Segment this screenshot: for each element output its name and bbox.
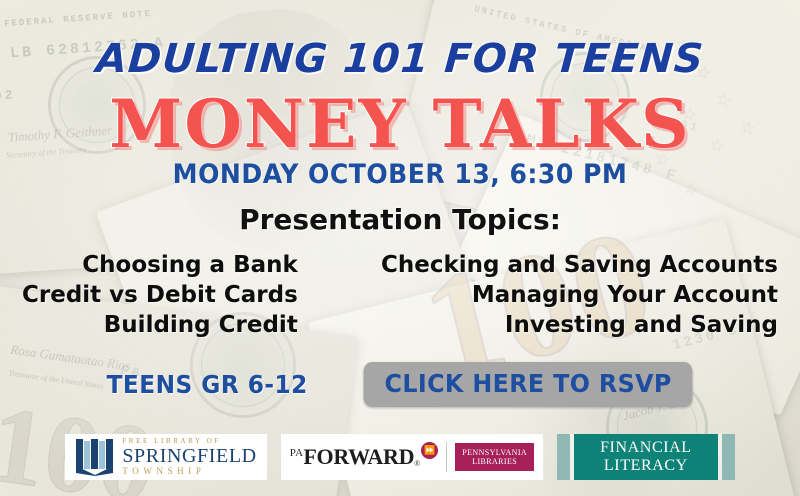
- topics-column-left: Choosing a Bank Credit vs Debit Cards Bu…: [22, 252, 298, 339]
- pa-forward-logo[interactable]: PA FORWARD ® ⏩ PENNSYLVANIA LIBRARIES: [281, 434, 543, 480]
- library-township: TOWNSHIP: [122, 467, 256, 476]
- topic-item: Investing and Saving: [505, 312, 778, 340]
- topics-heading: Presentation Topics:: [0, 203, 800, 236]
- flyer-content: ADULTING 101 FOR TEENS MONEY TALKS MONDA…: [0, 0, 800, 496]
- financial-literacy-panel: FINANCIAL LITERACY: [574, 434, 718, 480]
- main-headline: MONEY TALKS: [0, 85, 800, 163]
- badge-line-1: PENNSYLVANIA: [462, 448, 527, 457]
- pennsylvania-libraries-badge: PENNSYLVANIA LIBRARIES: [455, 443, 534, 471]
- topic-item: Choosing a Bank: [82, 252, 298, 280]
- topic-item: Managing Your Account: [472, 282, 778, 310]
- topic-item: Building Credit: [104, 312, 298, 340]
- event-datetime: MONDAY OCTOBER 13, 6:30 PM: [28, 159, 772, 190]
- topic-item: Checking and Saving Accounts: [381, 252, 778, 280]
- open-book-icon: [75, 438, 115, 476]
- library-name: SPRINGFIELD: [122, 446, 256, 466]
- teal-bar-left: [557, 434, 570, 480]
- registered-mark: ®: [414, 459, 420, 468]
- rsvp-button[interactable]: CLICK HERE TO RSVP: [364, 362, 693, 407]
- financial-literacy-logo[interactable]: FINANCIAL LITERACY: [557, 434, 735, 480]
- kicker-title: ADULTING 101 FOR TEENS: [0, 36, 800, 82]
- call-to-action-row: TEENS GR 6-12 CLICK HERE TO RSVP: [0, 362, 800, 407]
- library-logo-text: FREE LIBRARY OF SPRINGFIELD TOWNSHIP: [122, 438, 256, 476]
- financial-literacy-line-1: FINANCIAL: [600, 439, 692, 457]
- forward-word: FORWARD: [303, 446, 414, 468]
- topic-item: Credit vs Debit Cards: [22, 282, 298, 310]
- flyer-canvas: FEDERAL RESERVE NOTE LB 62812762 A 92 UN…: [0, 0, 800, 496]
- topics-column-right: Checking and Saving Accounts Managing Yo…: [381, 252, 778, 339]
- library-tagline: FREE LIBRARY OF: [122, 438, 256, 445]
- pa-forward-wordmark: PA FORWARD ® ⏩: [290, 446, 439, 468]
- sponsor-logo-strip: FREE LIBRARY OF SPRINGFIELD TOWNSHIP PA …: [0, 434, 800, 480]
- topics-columns: Choosing a Bank Credit vs Debit Cards Bu…: [0, 252, 800, 339]
- springfield-library-logo[interactable]: FREE LIBRARY OF SPRINGFIELD TOWNSHIP: [65, 434, 266, 480]
- audience-label: TEENS GR 6-12: [106, 370, 307, 399]
- logo-divider: [446, 442, 447, 472]
- badge-line-2: LIBRARIES: [472, 457, 517, 466]
- pa-prefix: PA: [290, 447, 304, 459]
- teal-bar-right: [722, 434, 735, 480]
- financial-literacy-line-2: LITERACY: [604, 457, 688, 475]
- fast-forward-icon: ⏩: [421, 442, 438, 459]
